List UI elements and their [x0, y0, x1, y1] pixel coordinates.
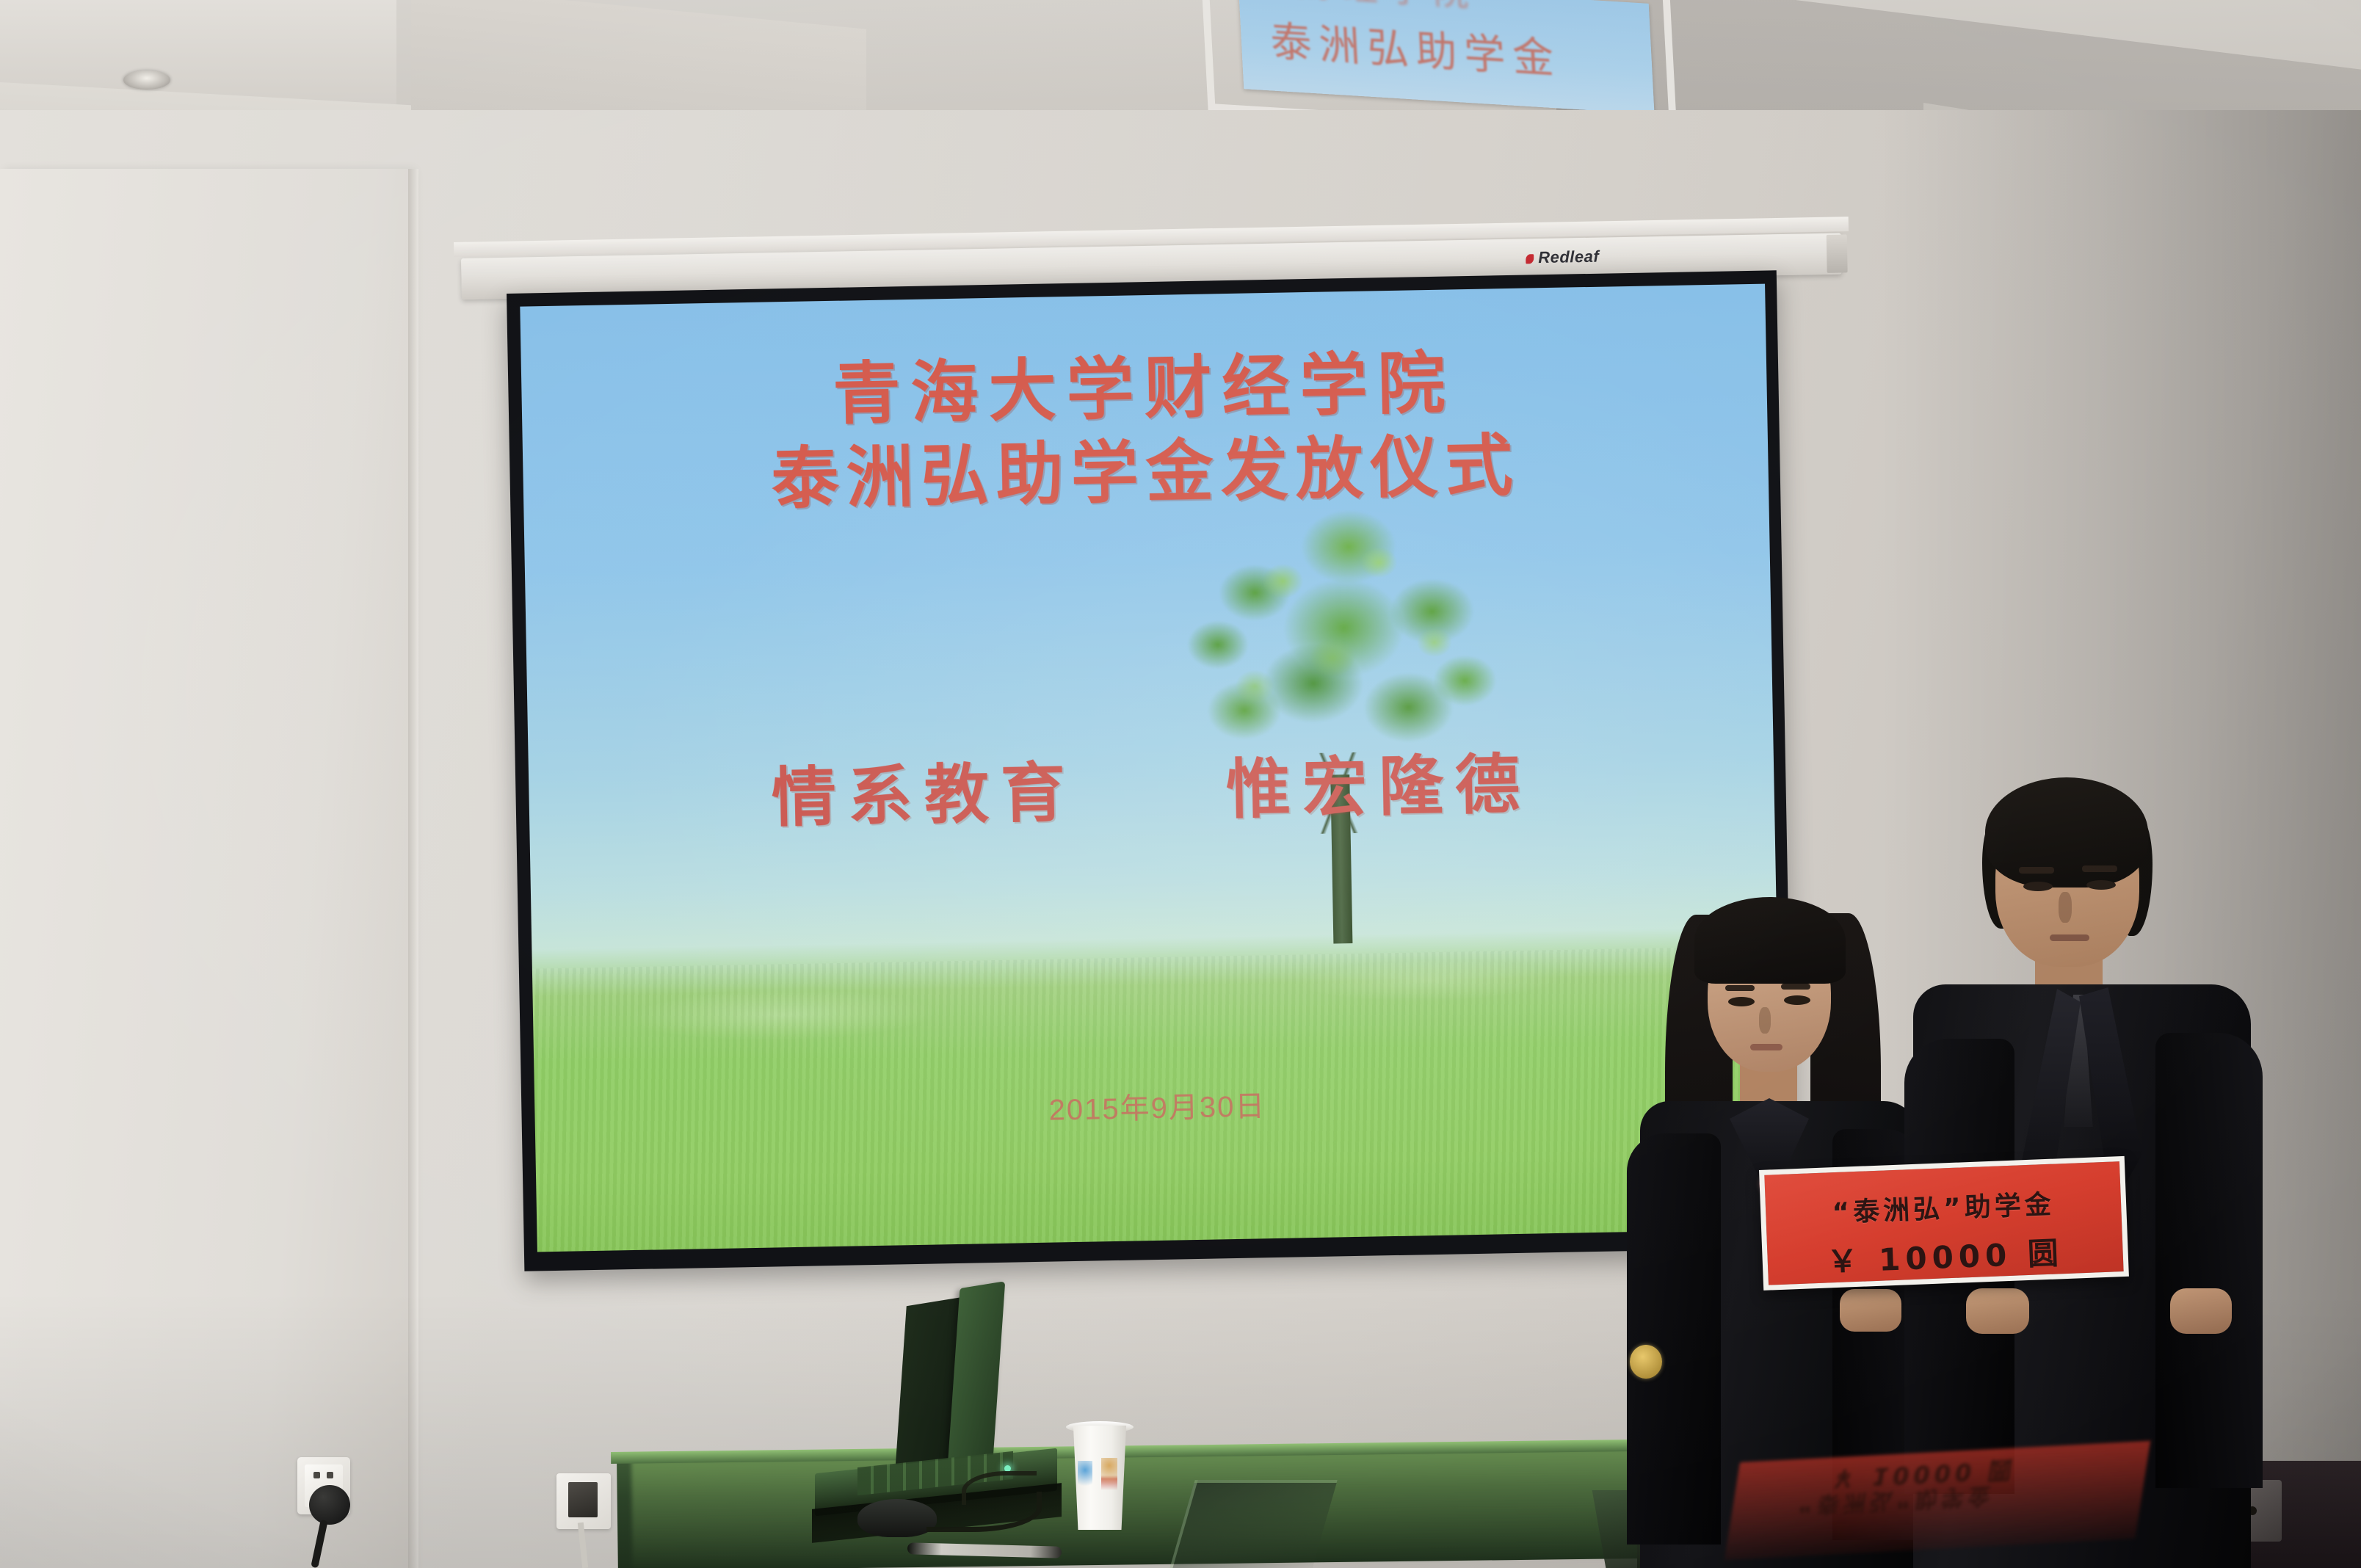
- photo-scene: 财经学院 泰洲弘助学金 Redleaf 青海大学财经学院 泰洲弘助学金发放仪式: [0, 0, 2361, 1568]
- check-reflection-fund: “泰洲弘”助学金: [1796, 1481, 1997, 1524]
- eyebrow: [2019, 867, 2054, 874]
- slide-title: 青海大学财经学院 泰洲弘助学金发放仪式: [521, 335, 1769, 526]
- eye: [1728, 997, 1755, 1006]
- arm-right: [2155, 1033, 2263, 1488]
- network-outlet: [556, 1473, 611, 1529]
- mouth: [2050, 934, 2089, 941]
- hair-bangs: [1694, 897, 1846, 984]
- check-amount-label: ￥ 10000 圆: [1767, 1226, 2124, 1285]
- nose: [2059, 892, 2072, 923]
- desk-object: [1169, 1480, 1338, 1568]
- power-plug: [309, 1485, 350, 1525]
- nose: [1759, 1007, 1771, 1034]
- redleaf-brand-label: Redleaf: [1526, 247, 1599, 268]
- leaf-icon: [1526, 254, 1534, 264]
- presentation-slide: 青海大学财经学院 泰洲弘助学金发放仪式 情系教育 惟宏隆德 2015年9月30日: [520, 284, 1782, 1252]
- mouth: [1750, 1044, 1782, 1050]
- brand-text: Redleaf: [1538, 247, 1599, 267]
- cup-graphic: [1101, 1458, 1117, 1496]
- check-fund-label: “泰洲弘”助学金: [1765, 1180, 2122, 1233]
- computer-mouse: [857, 1499, 937, 1537]
- eye: [1784, 995, 1810, 1005]
- tree-graphic: [1183, 478, 1508, 954]
- hand-right: [2170, 1288, 2232, 1334]
- cup-graphic: [1078, 1461, 1092, 1492]
- ceiling-downlight-icon: [123, 70, 170, 90]
- hand-right: [1840, 1289, 1901, 1332]
- housing-endcap: [1827, 234, 1848, 273]
- eye: [2086, 880, 2116, 890]
- slide-motto-right: 惟宏隆德: [1225, 747, 1532, 828]
- projection-screen: 青海大学财经学院 泰洲弘助学金发放仪式 情系教育 惟宏隆德 2015年9月30日: [507, 270, 1794, 1271]
- eyebrow: [1781, 984, 1810, 990]
- hair: [1985, 777, 2148, 888]
- outlet-slot: [568, 1482, 598, 1517]
- eyebrow: [1725, 985, 1755, 991]
- slide-motto-left: 情系教育: [771, 755, 1078, 836]
- hand-left: [1966, 1288, 2029, 1334]
- slide-motto: 情系教育 惟宏隆德: [528, 728, 1774, 844]
- bracelet: [1630, 1345, 1662, 1379]
- arm-left: [1627, 1133, 1721, 1545]
- eyebrow: [2082, 865, 2117, 872]
- award-check-board: “泰洲弘”助学金 ￥ 10000 圆: [1759, 1156, 2129, 1291]
- eye: [2023, 882, 2053, 891]
